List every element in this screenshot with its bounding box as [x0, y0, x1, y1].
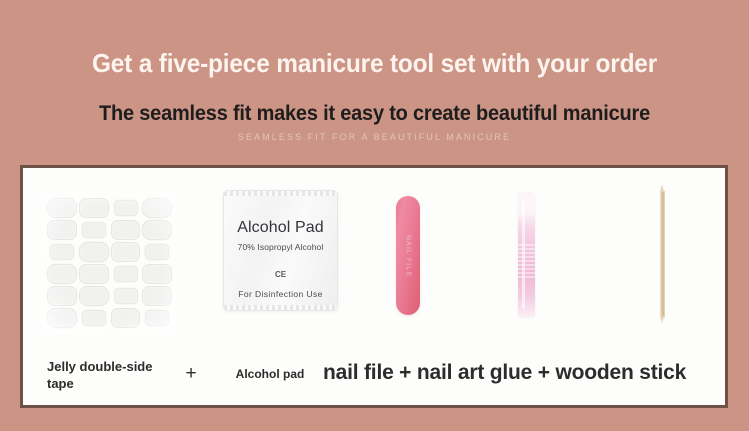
caption-jelly-tape: Jelly double-side tape: [47, 358, 162, 392]
product-image-row: Alcohol Pad 70% Isopropyl Alcohol CE For…: [23, 168, 725, 346]
alcohol-pad-image: Alcohol Pad 70% Isopropyl Alcohol CE For…: [223, 190, 338, 311]
tape-tab: [78, 242, 108, 262]
caption-remaining-tools: nail file + nail art glue + wooden stick: [323, 359, 713, 386]
packet-serration-bottom: [224, 305, 337, 310]
tape-tab: [145, 244, 169, 260]
packet-title: Alcohol Pad: [224, 219, 337, 237]
tape-tab: [142, 264, 172, 284]
stick-tip-bottom-icon: [660, 316, 664, 324]
wooden-stick-image: [660, 190, 665, 318]
tape-tab: [113, 266, 137, 282]
tape-tab: [113, 288, 137, 304]
tape-tab: [142, 286, 172, 306]
tape-tab: [79, 198, 109, 218]
promo-banner: Get a five-piece manicure tool set with …: [0, 0, 749, 431]
packet-serration-top: [224, 191, 337, 196]
tape-tab: [81, 310, 105, 326]
glue-highlight: [522, 198, 525, 309]
tape-tab: [145, 310, 169, 326]
nail-file-label: NAIL FILE: [405, 234, 412, 276]
tape-tab: [111, 220, 141, 240]
product-panel-inner: Alcohol Pad 70% Isopropyl Alcohol CE For…: [23, 168, 725, 405]
subheadline: The seamless fit makes it easy to create…: [19, 101, 731, 127]
caption-alcohol-pad: Alcohol pad: [215, 366, 325, 382]
stick-tip-top-icon: [660, 184, 664, 192]
tape-tab: [111, 242, 141, 262]
tape-tab: [81, 222, 105, 238]
plus-separator-icon: +: [171, 363, 211, 385]
tape-tab: [47, 264, 77, 284]
tape-tab: [113, 200, 137, 216]
ce-mark-icon: CE: [224, 270, 337, 279]
tape-tab: [78, 286, 108, 306]
tape-tab: [47, 308, 77, 328]
product-caption-row: Jelly double-side tape + Alcohol pad nai…: [23, 345, 725, 405]
page-title: Get a five-piece manicure tool set with …: [22, 47, 726, 79]
tape-tab: [47, 286, 77, 306]
packet-subtitle: 70% Isopropyl Alcohol: [224, 242, 337, 252]
tape-tab: [79, 264, 109, 284]
tape-tab: [47, 198, 77, 218]
packet-usage-text: For Disinfection Use: [224, 289, 337, 299]
tape-tab: [111, 308, 141, 328]
microcopy-tagline: SEAMLESS FIT FOR A BEAUTIFUL MANICURE: [0, 131, 749, 143]
tape-tab: [47, 220, 77, 240]
nail-art-glue-image: [518, 192, 535, 317]
jelly-tape-image: [47, 198, 172, 328]
product-panel: Alcohol Pad 70% Isopropyl Alcohol CE For…: [20, 165, 728, 408]
tape-tab: [50, 244, 74, 260]
tape-tab: [142, 220, 172, 240]
tape-tab: [142, 198, 172, 218]
nail-file-image: NAIL FILE: [396, 196, 420, 315]
glue-label-band: [518, 244, 535, 278]
